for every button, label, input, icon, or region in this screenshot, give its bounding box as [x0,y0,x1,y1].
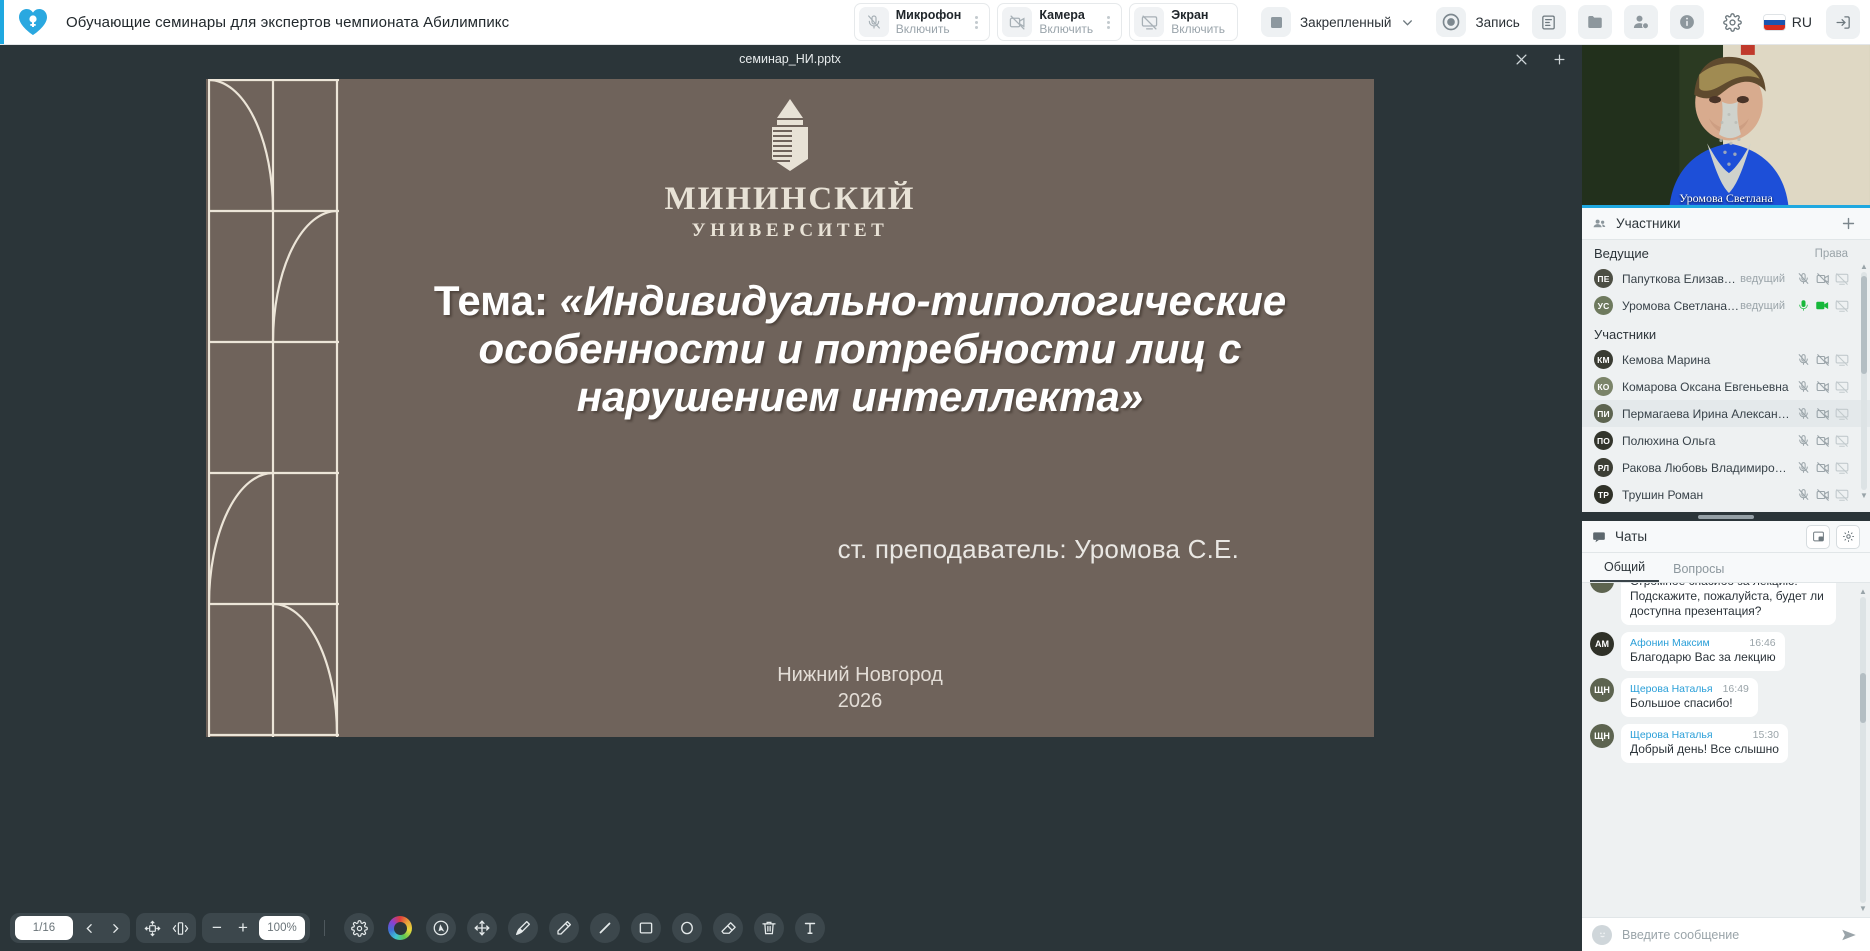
participants-title: Участники [1616,216,1836,231]
message-text: Благодарю Вас за лекцию [1630,650,1776,665]
screen-off-icon[interactable] [1833,299,1850,313]
avatar: ПИ [1594,404,1613,423]
screen-off-icon[interactable] [1833,353,1850,367]
list-item: ЩН Щерова Наталья 16:49 Большое спасибо! [1590,678,1854,717]
emoji-icon[interactable] [1592,925,1612,945]
table-row[interactable]: КО Комарова Оксана Евгеньевна [1582,373,1870,400]
accent-stripe [0,0,4,44]
stage-header-actions [1508,45,1572,73]
cam-off-icon[interactable] [1814,407,1831,421]
zoom-group: − + 100% [202,913,310,943]
logo-line-1: МИНИНСКИЙ [665,181,916,218]
color-wheel-icon[interactable] [385,913,415,943]
chat-panel: Чаты Общий Вопросы О [1582,521,1870,951]
message-bubble: Щерова Наталья 16:49 Большое спасибо! [1621,678,1758,717]
notes-icon[interactable] [1532,5,1566,39]
next-slide-button[interactable] [102,914,128,942]
scroll-thumb[interactable] [1861,276,1867,374]
camera-label: Камера [1039,8,1093,22]
chat-scrollbar[interactable]: ▲ ▼ [1860,587,1866,913]
move-icon[interactable] [467,913,497,943]
page-nav-group: 1/16 [10,913,130,943]
table-row[interactable]: РЛ Ракова Любовь Владимировна [1582,454,1870,481]
screen-off-icon[interactable] [1833,434,1850,448]
participant-name: Ракова Любовь Владимировна [1622,461,1793,475]
slide-toolbar: 1/16 [0,905,1580,951]
zoom-out-button[interactable]: − [204,914,230,942]
mic-off-icon[interactable] [1795,272,1812,285]
slide-city: Нижний Новгород [386,662,1334,689]
screen-label: Экран [1171,8,1225,22]
chat-icon [1592,530,1606,544]
ellipse-icon[interactable] [672,913,702,943]
cam-off-icon[interactable] [1814,488,1831,502]
message-header: Афонин Максим 16:46 [1630,637,1776,649]
cam-off-icon[interactable] [1814,434,1831,448]
hosts-section-label: Ведущие Права [1582,240,1870,265]
record-button[interactable]: Запись [1436,7,1519,37]
slide-title-quoted: «Индивидуально-типологические особенност… [479,277,1287,420]
participant-name: Папуткова Елизавета [1622,272,1740,286]
mic-off-icon[interactable] [1795,488,1812,501]
message-author: Щерова Наталья [1630,683,1713,695]
list-item: АМ Афонин Максим 16:46 Благодарю Вас за … [1590,632,1854,671]
participant-name: Пермагаева Ирина Александров... [1622,407,1793,421]
cam-on-icon[interactable] [1814,298,1831,313]
trash-icon[interactable] [754,913,784,943]
people-icon [1592,216,1607,231]
document-name: семинар_НИ.pptx [739,52,841,66]
conference-app: Обучающие семинары для экспертов чемпион… [0,0,1870,951]
slide-area: МИНИНСКИЙ УНИВЕРСИТЕТ Тема: «Индивидуаль… [0,73,1580,905]
participants-inner: Ведущие Права ПЕ Папуткова Елизавета вед… [1582,240,1870,508]
chat-message-input[interactable]: Введите сообщение [1622,928,1838,942]
screen-off-icon[interactable] [1833,461,1850,475]
university-logo: МИНИНСКИЙ УНИВЕРСИТЕТ [206,97,1374,242]
participants-list[interactable]: Ведущие Права ПЕ Папуткова Елизавета вед… [1582,240,1870,512]
participant-name: Трушин Роман [1622,488,1793,502]
avatar: ПЕ [1594,269,1613,288]
speaker-name: Уромова Светлана [1582,191,1870,206]
record-icon [1436,7,1466,37]
chat-input-row[interactable]: Введите сообщение [1582,917,1870,951]
message-author: Афонин Максим [1630,637,1710,649]
list-item: ЩН Щерова Наталья 15:30 Добрый день! Все… [1590,724,1854,763]
toolbar-divider [324,920,325,936]
record-label: Запись [1475,15,1519,30]
flag-ru-icon [1764,15,1785,30]
screen-off-icon[interactable] [1833,488,1850,502]
cam-off-icon[interactable] [1814,353,1831,367]
cam-off-icon[interactable] [1814,272,1831,286]
table-row[interactable]: ПИ Пермагаева Ирина Александров... [1582,400,1870,427]
slide-canvas[interactable]: МИНИНСКИЙ УНИВЕРСИТЕТ Тема: «Индивидуаль… [206,79,1374,737]
close-icon[interactable] [1508,46,1534,72]
chat-scroll-track [1860,597,1866,903]
microphone-off-icon [859,7,889,37]
scroll-up-arrow[interactable]: ▲ [1861,262,1867,271]
avatar: АМ [1590,632,1614,656]
avatar: РЛ [1594,458,1613,477]
cam-off-icon[interactable] [1814,461,1831,475]
hosts-label: Ведущие [1594,246,1649,261]
screen-off-icon[interactable] [1833,380,1850,394]
list-item: Огромное спасибо за лекцию! Подскажите, … [1590,583,1854,625]
table-row[interactable]: ПО Полюхина Ольга [1582,427,1870,454]
language-label: RU [1792,14,1812,30]
screen-sub: Включить [1171,22,1225,36]
table-row[interactable]: ПЕ Папуткова Елизавета ведущий [1582,265,1870,292]
participant-name: Уромова Светлана Евг... [1622,299,1740,313]
popout-icon[interactable] [1806,525,1830,549]
line-icon[interactable] [590,913,620,943]
microphone-menu-icon[interactable] [971,16,987,29]
slide-title-prefix: Тема: [434,277,560,324]
screen-off-icon[interactable] [1833,407,1850,421]
prev-slide-button[interactable] [76,914,102,942]
chevron-down-icon [1401,16,1414,29]
presentation-stage: семинар_НИ.pptx [0,45,1580,951]
mic-off-icon[interactable] [1795,353,1812,366]
fit-group [136,913,196,943]
top-bar: Обучающие семинары для экспертов чемпион… [0,0,1870,45]
avatar [1590,583,1614,593]
mic-off-icon[interactable] [1795,461,1812,474]
table-row[interactable]: КМ Кемова Марина [1582,346,1870,373]
add-participant-icon[interactable] [1836,212,1860,236]
fit-page-icon[interactable] [138,914,166,942]
logo-line-2: УНИВЕРСИТЕТ [692,220,889,242]
table-row[interactable]: УС Уромова Светлана Евг... ведущий [1582,292,1870,319]
eraser-icon[interactable] [713,913,743,943]
chat-messages[interactable]: Огромное спасибо за лекцию! Подскажите, … [1582,583,1870,917]
university-emblem-icon [759,97,821,175]
microphone-label: Микрофон [896,8,962,22]
message-time: 15:30 [1753,729,1779,741]
video-frame [1582,45,1870,207]
layout-select[interactable]: Закрепленный [1257,5,1418,39]
zoom-level[interactable]: 100% [259,916,305,940]
layout-pinned-icon [1261,7,1291,37]
zoom-in-button[interactable]: + [230,914,256,942]
mic-on-icon[interactable] [1795,299,1812,312]
guests-section-label: Участники [1582,319,1870,346]
info-icon[interactable] [1670,5,1704,39]
message-time: 16:46 [1749,637,1775,649]
slide-title: Тема: «Индивидуально-типологические особ… [386,277,1334,421]
folder-icon[interactable] [1578,5,1612,39]
plus-icon[interactable] [1546,46,1572,72]
message-header: Щерова Наталья 16:49 [1630,683,1749,695]
participants-header: Участники [1582,208,1870,240]
laser-pointer-icon[interactable] [426,913,456,943]
screen-share-off-icon [1134,7,1164,37]
guests-label: Участники [1594,327,1656,342]
exit-icon[interactable] [1826,5,1860,39]
message-text: Огромное спасибо за лекцию! Подскажите, … [1630,583,1827,619]
avatar: ЩН [1590,678,1614,702]
rights-label: Права [1815,248,1848,260]
message-header: Щерова Наталья 15:30 [1630,729,1779,741]
chat-tabs: Общий Вопросы [1582,553,1870,583]
participant-role: ведущий [1740,300,1785,312]
microphone-sub: Включить [896,22,962,36]
message-author: Щерова Наталья [1630,729,1713,741]
participant-name: Полюхина Ольга [1622,434,1793,448]
avatar: ПО [1594,431,1613,450]
heart-logo-icon [18,8,48,36]
message-text: Большое спасибо! [1630,696,1749,711]
text-tool-icon[interactable] [795,913,825,943]
mic-off-icon[interactable] [1795,407,1812,420]
send-icon[interactable] [1838,924,1860,946]
camera-sub: Включить [1039,22,1093,36]
app-logo [0,8,66,36]
camera-text: Камера Включить [1039,8,1103,36]
message-bubble: Щерова Наталья 15:30 Добрый день! Все сл… [1621,724,1788,763]
chat-scroll-up-arrow[interactable]: ▲ [1860,587,1866,596]
participant-name: Кемова Марина [1622,353,1793,367]
avatar: ТР [1594,485,1613,504]
chat-scroll-thumb[interactable] [1860,673,1866,723]
avatar: КМ [1594,350,1613,369]
camera-button[interactable]: Камера Включить [997,3,1122,41]
fit-width-icon[interactable] [166,914,194,942]
camera-off-icon [1002,7,1032,37]
screen-share-text: Экран Включить [1171,8,1235,36]
cam-off-icon[interactable] [1814,380,1831,394]
brush-icon[interactable] [508,913,538,943]
message-text: Добрый день! Все слышно [1630,742,1779,757]
participant-role: ведущий [1740,273,1785,285]
main-body: семинар_НИ.pptx [0,45,1870,951]
microphone-button[interactable]: Микрофон Включить [854,3,991,41]
tab-voprosy[interactable]: Вопросы [1659,562,1738,582]
speaker-video-tile[interactable]: Уромова Светлана [1582,45,1870,208]
add-person-icon[interactable] [1624,5,1658,39]
rectangle-icon[interactable] [631,913,661,943]
message-bubble: Огромное спасибо за лекцию! Подскажите, … [1621,583,1836,625]
pencil-icon[interactable] [549,913,579,943]
scroll-down-arrow[interactable]: ▼ [1861,491,1867,500]
participants-hscrollbar[interactable] [1582,512,1870,521]
table-row[interactable]: ТР Трушин Роман [1582,481,1870,508]
microphone-text: Микрофон Включить [896,8,972,36]
message-time: 16:49 [1723,683,1749,695]
avatar: ЩН [1590,724,1614,748]
chat-scroll-down-arrow[interactable]: ▼ [1860,904,1866,913]
participant-name: Комарова Оксана Евгеньевна [1622,380,1793,394]
tab-obshiy[interactable]: Общий [1590,560,1659,582]
speaking-indicator [1582,205,1870,208]
chat-header: Чаты [1582,521,1870,553]
slide-author: ст. преподаватель: Уромова С.Е. [838,534,1239,565]
screen-share-button[interactable]: Экран Включить [1129,3,1238,41]
chat-settings-gear-icon[interactable] [1836,525,1860,549]
camera-menu-icon[interactable] [1103,16,1119,29]
gear-icon[interactable] [1716,5,1750,39]
screen-off-icon[interactable] [1833,272,1850,286]
slide-footer: Нижний Новгород 2026 [386,662,1334,715]
app-title: Обучающие семинары для экспертов чемпион… [66,14,509,31]
participants-scrollbar[interactable]: ▲ ▼ [1861,262,1867,500]
slide-year: 2026 [386,688,1334,715]
page-indicator[interactable]: 1/16 [15,916,73,940]
layout-label: Закрепленный [1300,15,1391,30]
mic-off-icon[interactable] [1795,380,1812,393]
right-panel: Уромова Светлана Участники [1580,45,1870,951]
avatar: КО [1594,377,1613,396]
message-bubble: Афонин Максим 16:46 Благодарю Вас за лек… [1621,632,1785,671]
chat-title: Чаты [1615,529,1800,544]
mic-off-icon[interactable] [1795,434,1812,447]
avatar: УС [1594,296,1613,315]
language-selector[interactable]: RU [1764,14,1812,30]
settings-gear-icon[interactable] [344,913,374,943]
stage-header: семинар_НИ.pptx [0,45,1580,73]
